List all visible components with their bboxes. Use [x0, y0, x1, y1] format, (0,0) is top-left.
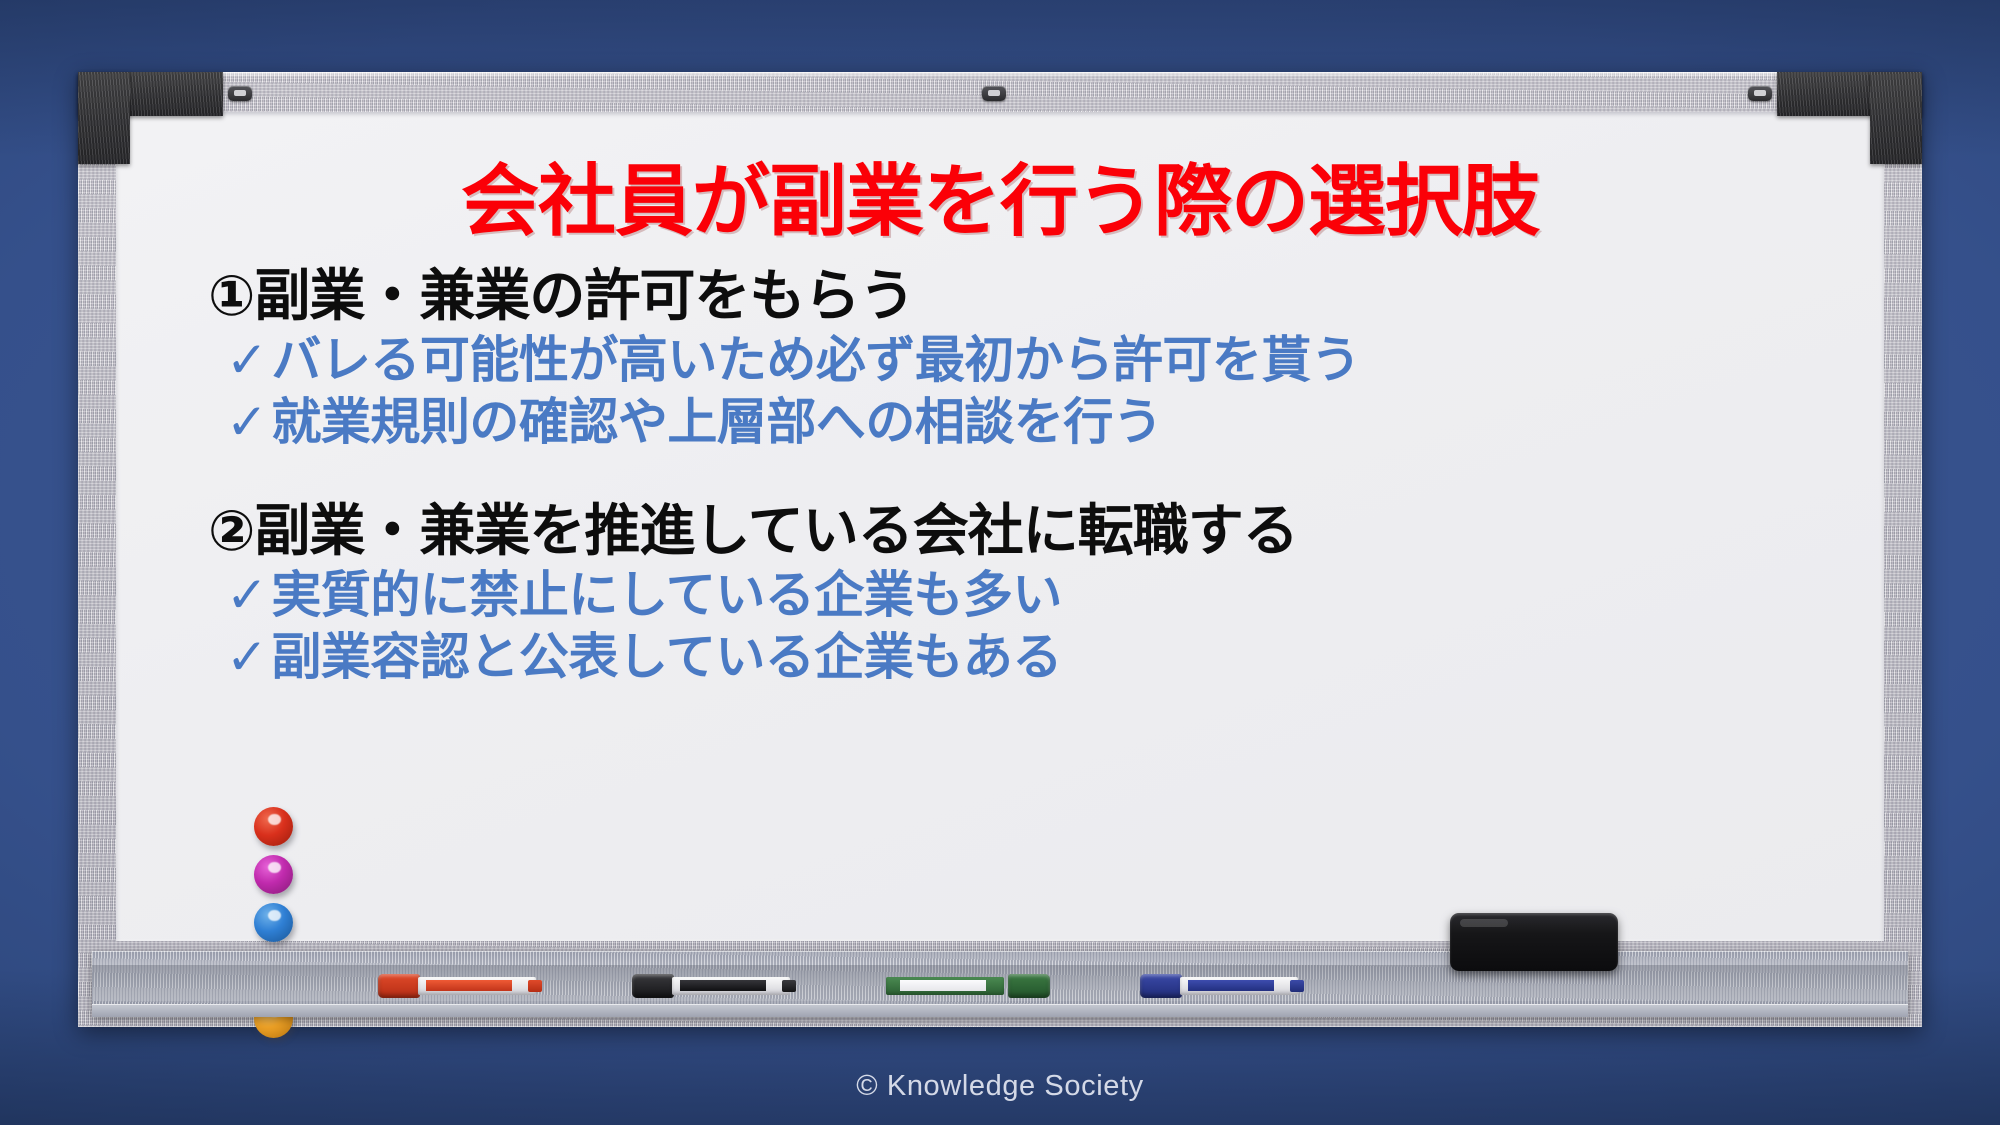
option-1-bullet-2-text: 就業規則の確認や上層部への相談を行う [271, 394, 1162, 450]
check-icon: ✓ [226, 332, 267, 388]
option-1-heading: ①副業・兼業の許可をもらう [208, 263, 1844, 329]
option-1-bullet-2: ✓就業規則の確認や上層部への相談を行う [226, 391, 1844, 454]
option-2-heading: ②副業・兼業を推進している会社に転職する [208, 498, 1844, 564]
pen-tray [92, 951, 1908, 1017]
option-block-2: ②副業・兼業を推進している会社に転職する ✓実質的に禁止にしている企業も多い ✓… [156, 498, 1844, 689]
option-2-bullet-1-text: 実質的に禁止にしている企業も多い [271, 567, 1062, 623]
check-icon: ✓ [226, 629, 267, 685]
frame-stud-center [982, 86, 1006, 101]
option-2-bullet-1: ✓実質的に禁止にしている企業も多い [226, 564, 1844, 627]
copyright-footer: © Knowledge Society [0, 1070, 2000, 1103]
option-1-bullet-1: ✓バレる可能性が高いため必ず最初から許可を貰う [226, 329, 1844, 392]
option-block-1: ①副業・兼業の許可をもらう ✓バレる可能性が高いため必ず最初から許可を貰う ✓就… [156, 263, 1844, 454]
option-2-bullet-2-text: 副業容認と公表している企業もある [271, 629, 1062, 685]
slide-content: 会社員が副業を行う際の選択肢 ①副業・兼業の許可をもらう ✓バレる可能性が高いた… [116, 112, 1884, 941]
frame-stud-right [1748, 86, 1772, 101]
check-icon: ✓ [226, 567, 267, 623]
whiteboard-eraser[interactable] [1450, 913, 1618, 971]
frame-stud-left [228, 86, 252, 101]
frame-highlight [78, 72, 1922, 78]
whiteboard: 会社員が副業を行う際の選択肢 ①副業・兼業の許可をもらう ✓バレる可能性が高いた… [78, 72, 1922, 1027]
option-1-bullet-1-text: バレる可能性が高いため必ず最初から許可を貰う [271, 332, 1360, 388]
check-icon: ✓ [226, 394, 267, 450]
tray-lip [92, 1004, 1908, 1017]
option-2-bullet-2: ✓副業容認と公表している企業もある [226, 626, 1844, 689]
page-title: 会社員が副業を行う際の選択肢 [156, 160, 1844, 243]
